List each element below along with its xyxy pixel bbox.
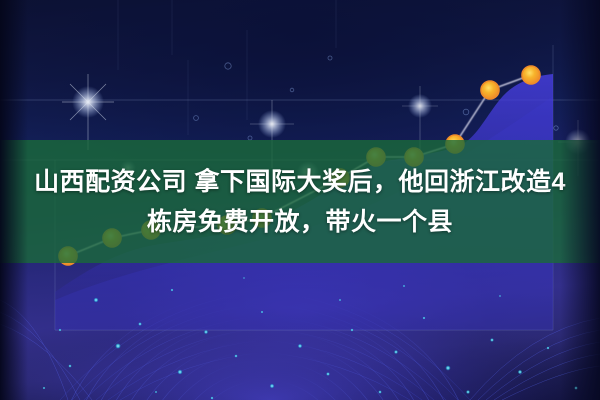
ring-particle-group	[194, 56, 559, 140]
headline-block: 山西配资公司 拿下国际大奖后，他回浙江改造4 栋房免费开放，带火一个县	[0, 150, 600, 253]
right-edge-shade	[560, 0, 600, 400]
headline-line-1: 山西配资公司 拿下国际大奖后，他回浙江改造4	[34, 162, 566, 202]
sparkle-group	[43, 277, 578, 400]
left-edge-shade	[0, 0, 28, 400]
thumbnail-card: 山西配资公司 拿下国际大奖后，他回浙江改造4 栋房免费开放，带火一个县	[0, 0, 600, 400]
headline-line-2: 栋房免费开放，带火一个县	[147, 202, 453, 242]
